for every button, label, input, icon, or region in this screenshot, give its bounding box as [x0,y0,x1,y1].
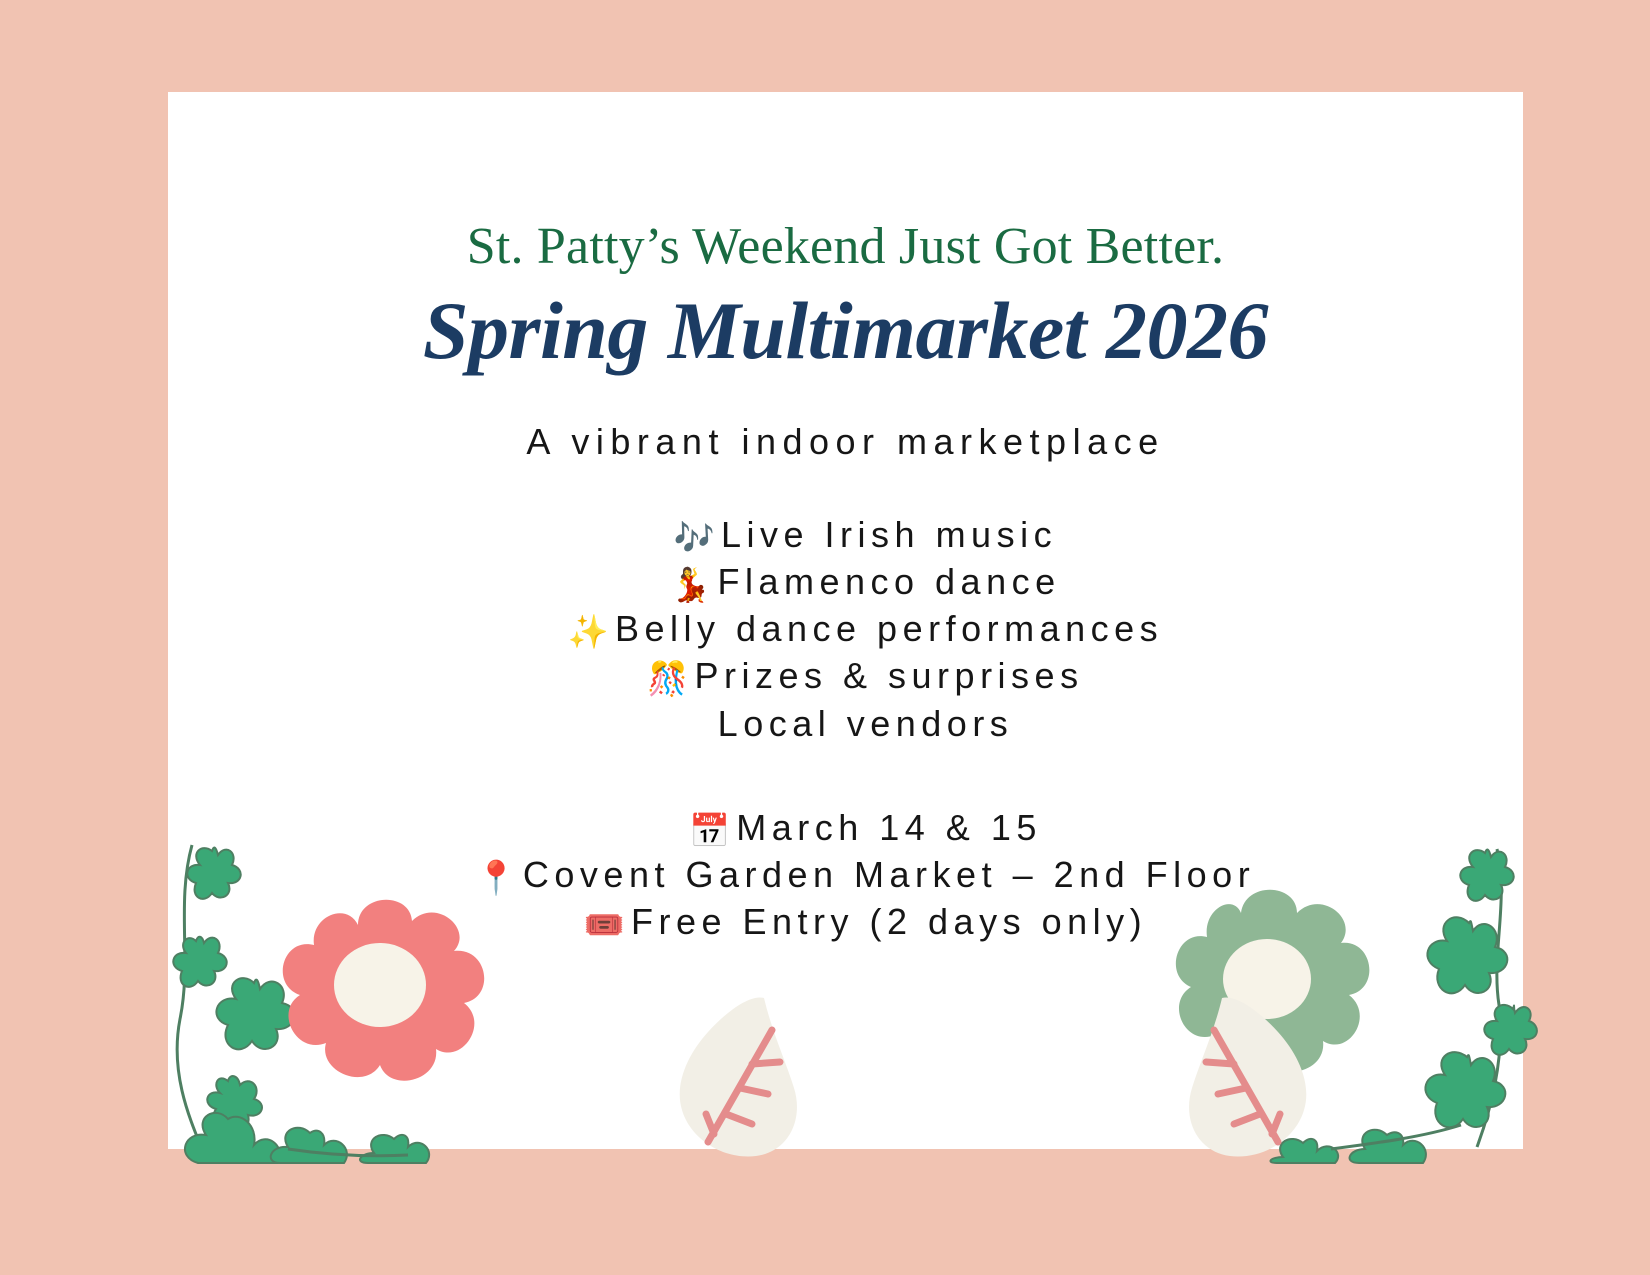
list-item: 📅March 14 & 15 [208,805,1523,852]
event-date-label: March 14 & 15 [736,807,1042,848]
list-item: 📍Covent Garden Market – 2nd Floor [208,852,1523,899]
ticket-icon: 🎟️ [584,904,625,946]
sparkles-icon: ✨ [568,611,609,653]
event-details-list: 📅March 14 & 15 📍Covent Garden Market – 2… [168,747,1523,947]
list-item-label: Prizes & surprises [695,655,1084,696]
list-item-label: Flamenco dance [717,561,1060,602]
subtitle-text: A vibrant indoor marketplace [168,376,1523,463]
calendar-icon: 📅 [689,810,730,852]
list-item: 🎟️Free Entry (2 days only) [208,899,1523,946]
event-location-label: Covent Garden Market – 2nd Floor [523,854,1255,895]
cream-leaf-right [1168,992,1318,1157]
list-item-label: Live Irish music [721,514,1057,555]
page-title: Spring Multimarket 2026 [168,275,1523,377]
list-item: 💃Flamenco dance [208,559,1523,606]
musical-notes-icon: 🎶 [674,517,715,559]
list-item-label: Belly dance performances [615,608,1163,649]
list-item: 🎊Prizes & surprises [208,653,1523,700]
dancer-icon: 💃 [670,564,711,606]
poster-content: St. Patty’s Weekend Just Got Better. Spr… [168,92,1523,946]
list-item: ✨Belly dance performances [208,606,1523,653]
cream-leaf-left [668,992,818,1157]
event-entry-label: Free Entry (2 days only) [631,901,1147,942]
list-item-label: Local vendors [718,703,1014,744]
feature-list: 🎶Live Irish music 💃Flamenco dance ✨Belly… [168,464,1523,747]
location-pin-icon: 📍 [476,857,517,899]
poster-card: St. Patty’s Weekend Just Got Better. Spr… [168,92,1523,1149]
eyebrow-text: St. Patty’s Weekend Just Got Better. [168,92,1523,275]
confetti-ball-icon: 🎊 [647,658,688,700]
list-item: Local vendors [208,701,1523,747]
list-item: 🎶Live Irish music [208,512,1523,559]
poster-canvas: St. Patty’s Weekend Just Got Better. Spr… [0,0,1650,1275]
